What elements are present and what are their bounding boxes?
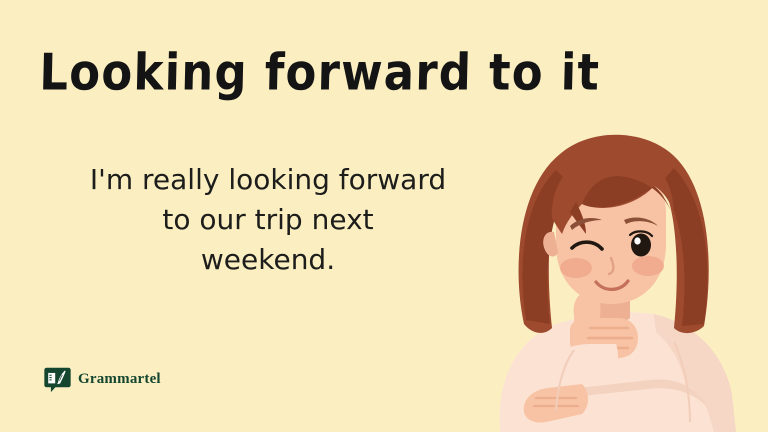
eye-right-highlight <box>634 237 640 244</box>
blush-right <box>632 256 664 276</box>
example-sentence: I'm really looking forward to our trip n… <box>48 160 488 279</box>
winking-woman-thumbs-up-illustration <box>478 92 768 432</box>
sentence-line-2: to our trip next <box>48 200 488 240</box>
sentence-line-3: weekend. <box>48 240 488 280</box>
sentence-line-1: I'm really looking forward <box>48 160 488 200</box>
quote-card: Looking forward to it I'm really looking… <box>0 0 768 432</box>
brand-name: Grammartel <box>78 371 161 388</box>
sleeve-cuff-upper <box>563 344 618 378</box>
book-quill-speech-bubble-icon <box>44 366 71 393</box>
blush-left <box>560 258 592 278</box>
eye-right <box>631 234 651 257</box>
page-title: Looking forward to it <box>39 46 540 99</box>
brand-logo: Grammartel <box>44 366 161 393</box>
